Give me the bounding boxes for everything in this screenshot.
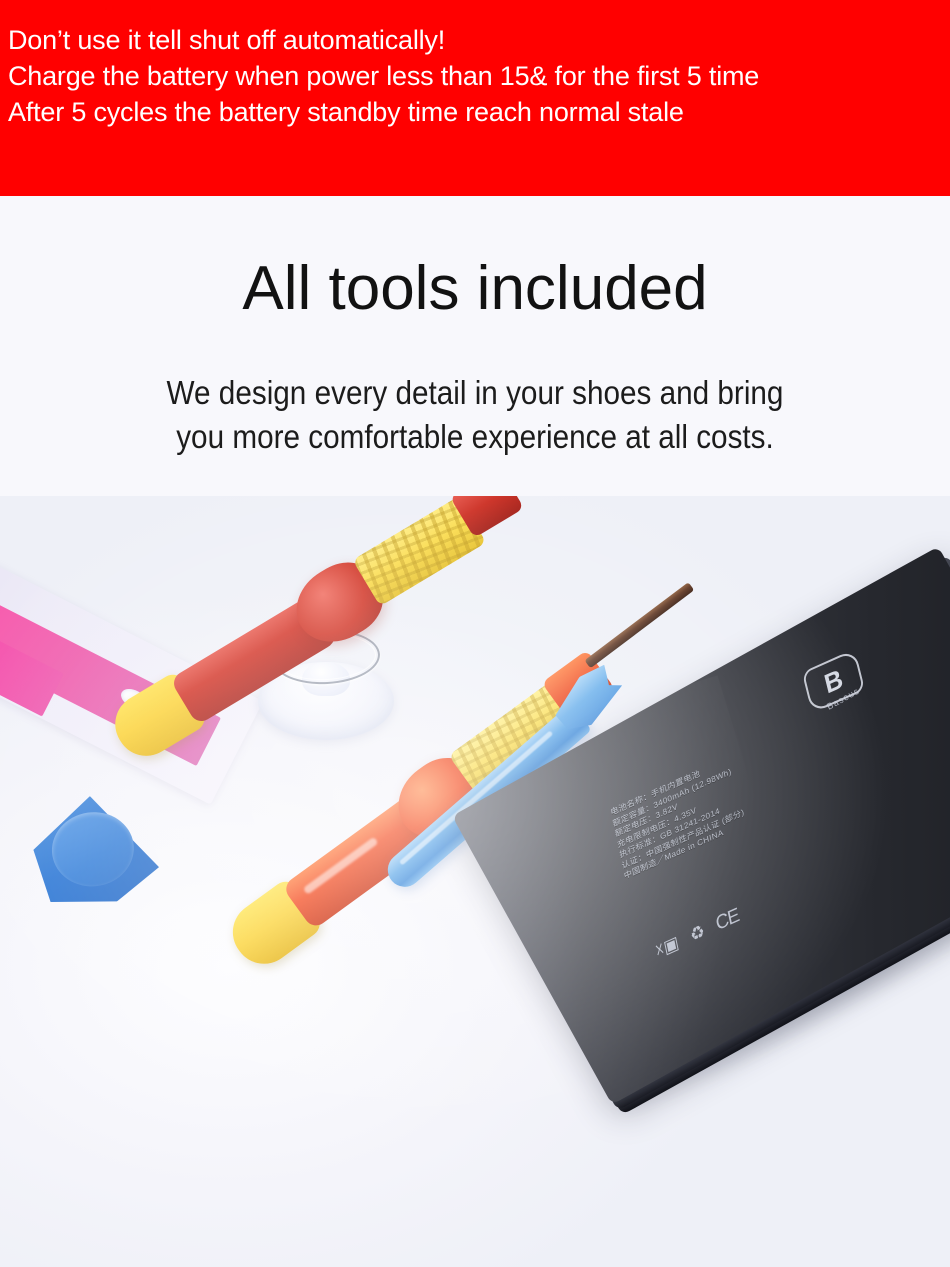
warning-line-3: After 5 cycles the battery standby time … — [8, 94, 950, 130]
warning-line-1: Don’t use it tell shut off automatically… — [8, 22, 950, 58]
page-title: All tools included — [0, 256, 950, 322]
subtitle-line-1: We design every detail in your shoes and… — [48, 371, 903, 415]
intro-section: All tools included We design every detai… — [0, 196, 950, 496]
ce-mark-icon: CE — [714, 905, 740, 934]
screwdriver-orange-shaft — [584, 582, 694, 668]
certification-marks: ☓▣ ♻ CE — [654, 905, 741, 961]
subtitle-line-2: you more comfortable experience at all c… — [48, 415, 903, 459]
warning-banner: Don’t use it tell shut off automatically… — [0, 0, 950, 196]
battery-face: B Baseus 电池名称：手机内置电池 额定容量：3400mAh (12.98… — [452, 546, 950, 1104]
warning-line-2: Charge the battery when power less than … — [8, 58, 950, 94]
page-subtitle: We design every detail in your shoes and… — [48, 371, 903, 459]
pry-pick — [27, 788, 163, 912]
battery-spec-block: 电池名称：手机内置电池 额定容量：3400mAh (12.98Wh) 额定电压：… — [610, 690, 891, 882]
battery: B Baseus 电池名称：手机内置电池 额定容量：3400mAh (12.98… — [452, 545, 950, 1193]
wee-crossed-bin-icon: ☓▣ — [654, 933, 681, 960]
recycle-icon: ♻ — [689, 922, 707, 945]
product-photo: B Baseus 电池名称：手机内置电池 额定容量：3400mAh (12.98… — [0, 496, 950, 1267]
